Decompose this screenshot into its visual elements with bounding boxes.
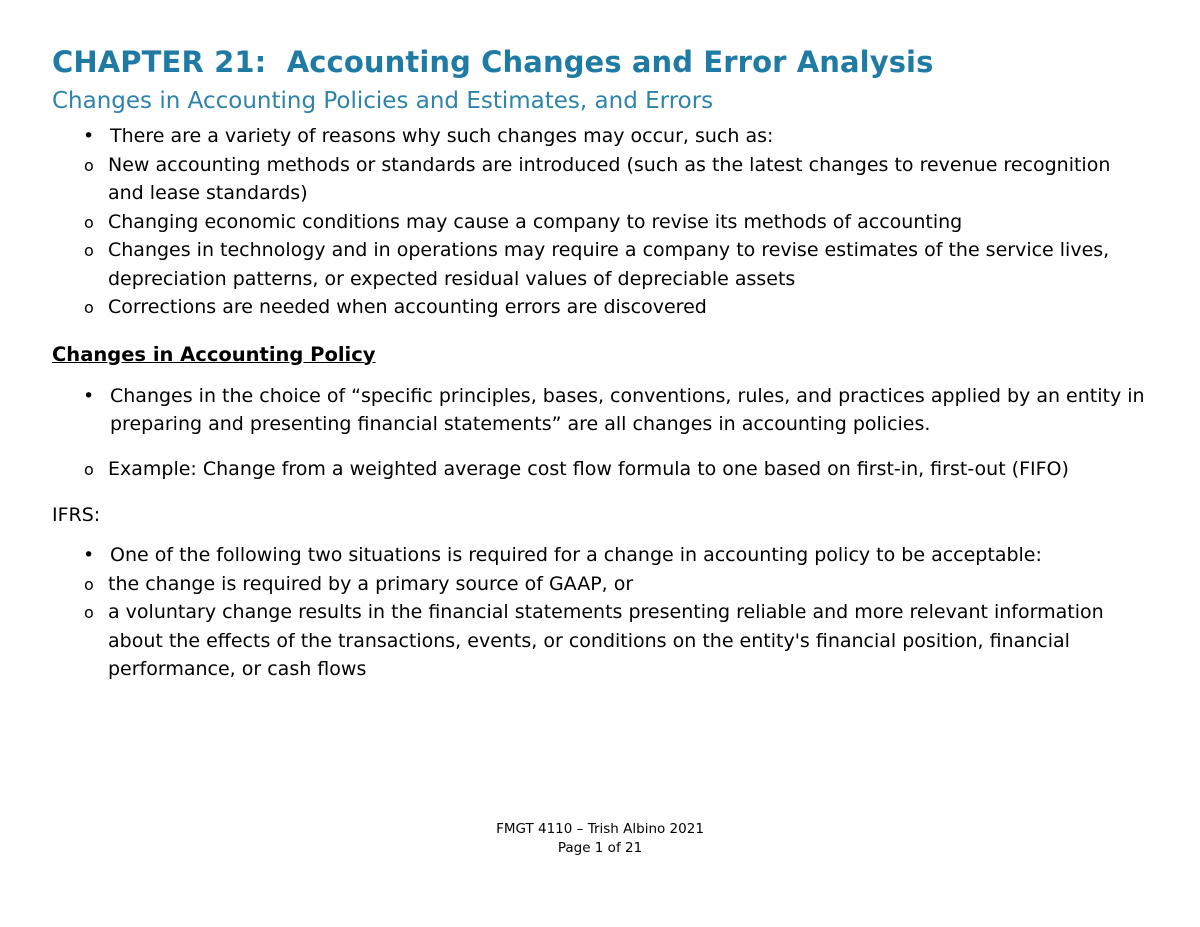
intro-bullet-list: • There are a variety of reasons why suc… (52, 122, 1152, 151)
list-item-text: Changing economic conditions may cause a… (108, 211, 962, 233)
bullet-circle-icon: o (84, 236, 94, 265)
list-item: o a voluntary change results in the fina… (52, 598, 1152, 684)
list-item: o Corrections are needed when accounting… (52, 293, 1152, 322)
list-item-text: There are a variety of reasons why such … (110, 125, 773, 147)
ifrs-bullet-list: • One of the following two situations is… (52, 541, 1152, 570)
list-item-text: Changes in technology and in operations … (108, 239, 1109, 290)
bullet-disc-icon: • (83, 122, 94, 151)
bullet-circle-icon: o (84, 455, 94, 484)
list-item-text: Corrections are needed when accounting e… (108, 296, 707, 318)
list-item-text: Changes in the choice of “specific princ… (110, 385, 1145, 436)
list-item: o Changes in technology and in operation… (52, 236, 1152, 293)
document-content: CHAPTER 21: Accounting Changes and Error… (52, 44, 1152, 684)
intro-sub-list-wrap: o New accounting methods or standards ar… (52, 151, 1152, 322)
ifrs-label: IFRS: (52, 501, 1152, 529)
bullet-circle-icon: o (84, 151, 94, 180)
policy-bullet-list: • Changes in the choice of “specific pri… (52, 382, 1152, 439)
list-item-text: One of the following two situations is r… (110, 544, 1042, 566)
list-item: o Changing economic conditions may cause… (52, 208, 1152, 237)
spacer (52, 439, 1152, 455)
bullet-circle-icon: o (84, 293, 94, 322)
list-item: • One of the following two situations is… (52, 541, 1152, 570)
page-subtitle: Changes in Accounting Policies and Estim… (52, 86, 1152, 116)
list-item-text: the change is required by a primary sour… (108, 573, 633, 595)
ifrs-sub-bullet-list: o the change is required by a primary so… (52, 570, 1152, 684)
list-item-text: Example: Change from a weighted average … (108, 458, 1069, 480)
bullet-disc-icon: • (83, 382, 94, 411)
page-title: CHAPTER 21: Accounting Changes and Error… (52, 44, 1152, 80)
bullet-circle-icon: o (84, 598, 94, 627)
list-item: o Example: Change from a weighted averag… (52, 455, 1152, 484)
bullet-circle-icon: o (84, 208, 94, 237)
policy-example-list: o Example: Change from a weighted averag… (52, 455, 1152, 484)
footer-course-line: FMGT 4110 – Trish Albino 2021 (0, 820, 1200, 839)
list-item-text: New accounting methods or standards are … (108, 154, 1110, 205)
list-item: • Changes in the choice of “specific pri… (52, 382, 1152, 439)
bullet-circle-icon: o (84, 570, 94, 599)
footer-page-line: Page 1 of 21 (0, 839, 1200, 858)
page-footer: FMGT 4110 – Trish Albino 2021 Page 1 of … (0, 820, 1200, 858)
intro-sub-bullet-list: o New accounting methods or standards ar… (52, 151, 1152, 322)
list-item: • There are a variety of reasons why suc… (52, 122, 1152, 151)
section-heading-accounting-policy: Changes in Accounting Policy (52, 342, 1152, 368)
list-item-text: a voluntary change results in the financ… (108, 601, 1104, 680)
ifrs-sub-list-wrap: o the change is required by a primary so… (52, 570, 1152, 684)
bullet-disc-icon: • (83, 541, 94, 570)
document-page: CHAPTER 21: Accounting Changes and Error… (0, 0, 1200, 927)
list-item: o the change is required by a primary so… (52, 570, 1152, 599)
list-item: o New accounting methods or standards ar… (52, 151, 1152, 208)
